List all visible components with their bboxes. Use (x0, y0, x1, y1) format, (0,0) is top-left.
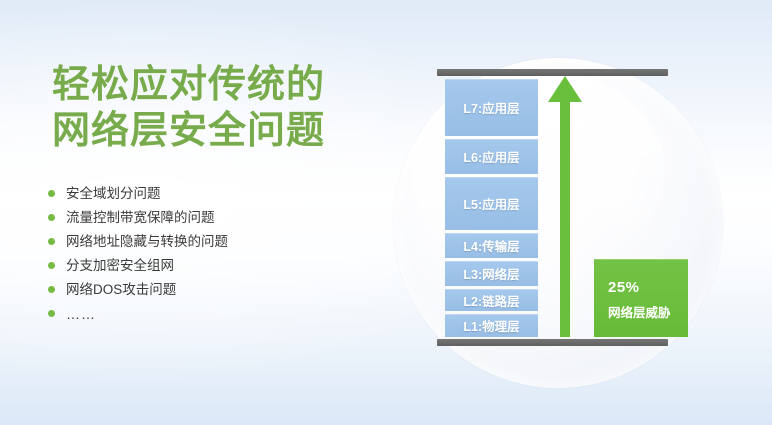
upward-arrow-icon (548, 76, 582, 337)
bullet-dot-icon (48, 238, 55, 245)
bullet-label: 流量控制带宽保障的问题 (66, 208, 215, 228)
bullet-dot-icon (48, 310, 55, 317)
rail-top-bar (437, 69, 668, 76)
threat-label: 网络层威胁 (608, 302, 671, 321)
osi-layer-stack: L7:应用层 L6:应用层 L5:应用层 L4:传输层 L3:网络层 L2:链路… (445, 79, 538, 337)
bullet-label: 分支加密安全组网 (66, 256, 174, 276)
osi-layer-l5: L5:应用层 (445, 177, 538, 230)
osi-layer-label: L2:链路层 (463, 291, 519, 310)
osi-layer-label: L1:物理层 (463, 316, 519, 335)
osi-stack-diagram: L7:应用层 L6:应用层 L5:应用层 L4:传输层 L3:网络层 L2:链路… (393, 58, 723, 388)
slide-canvas: 轻松应对传统的 网络层安全问题 安全域划分问题 流量控制带宽保障的问题 网络地址… (0, 0, 772, 425)
arrow-shaft (560, 100, 570, 337)
bullet-dot-icon (48, 190, 55, 197)
osi-layer-label: L7:应用层 (463, 98, 519, 117)
osi-layer-l7: L7:应用层 (445, 79, 538, 136)
threat-percent: 25% (608, 279, 640, 296)
bullet-list: 安全域划分问题 流量控制带宽保障的问题 网络地址隐藏与转换的问题 分支加密安全组… (48, 183, 378, 327)
list-item: 网络地址隐藏与转换的问题 (48, 231, 378, 252)
threat-callout-box: 25% 网络层威胁 (594, 259, 688, 337)
bullet-dot-icon (48, 286, 55, 293)
osi-layer-label: L4:传输层 (463, 236, 519, 255)
bullet-label: 网络地址隐藏与转换的问题 (66, 232, 228, 252)
list-item: 分支加密安全组网 (48, 255, 378, 276)
list-item: 流量控制带宽保障的问题 (48, 207, 378, 228)
title-line-2: 网络层安全问题 (52, 108, 382, 154)
osi-layer-label: L5:应用层 (463, 194, 519, 213)
rail-bottom-bar (437, 339, 668, 346)
osi-layer-l3: L3:网络层 (445, 261, 538, 286)
osi-layer-l6: L6:应用层 (445, 139, 538, 174)
arrow-head (548, 76, 582, 102)
list-item: 安全域划分问题 (48, 183, 378, 204)
osi-layer-label: L3:网络层 (463, 264, 519, 283)
bullet-label: 安全域划分问题 (66, 184, 161, 204)
bullet-dot-icon (48, 214, 55, 221)
bullet-dot-icon (48, 262, 55, 269)
osi-layer-label: L6:应用层 (463, 147, 519, 166)
list-item: 网络DOS攻击问题 (48, 279, 378, 300)
bullet-label: 网络DOS攻击问题 (66, 280, 176, 300)
title-line-1: 轻松应对传统的 (52, 62, 382, 108)
page-title: 轻松应对传统的 网络层安全问题 (52, 62, 382, 154)
osi-layer-l4: L4:传输层 (445, 233, 538, 258)
osi-layer-l2: L2:链路层 (445, 289, 538, 311)
osi-layer-l1: L1:物理层 (445, 314, 538, 337)
list-item: …… (48, 303, 378, 324)
bullet-label: …… (66, 304, 96, 324)
left-content-pane: 轻松应对传统的 网络层安全问题 安全域划分问题 流量控制带宽保障的问题 网络地址… (0, 0, 400, 425)
